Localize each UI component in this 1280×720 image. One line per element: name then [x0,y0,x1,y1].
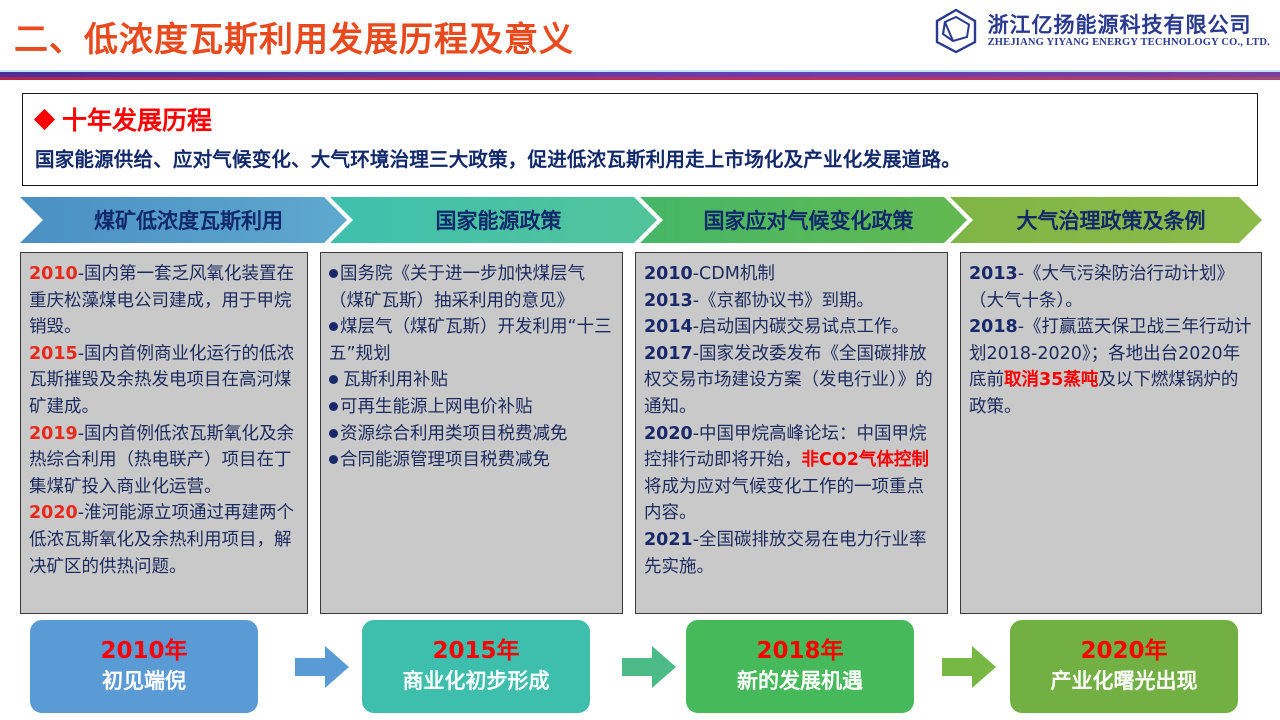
content-line: 2010-CDM机制 [644,261,941,288]
arrow-right-icon [622,646,676,688]
content-line-text: 将成为应对气候变化工作的一项重点内容。 [644,477,924,524]
year-label: 2015 [29,344,78,364]
content-line: 瓦斯利用补贴 [329,367,616,394]
content-line: 2013-《京都协议书》到期。 [644,288,941,315]
divider-line-3 [0,77,1280,80]
milestone-label: 新的发展机遇 [737,667,863,696]
chevron-step-label: 国家应对气候变化政策 [694,205,914,235]
content-line: 2013-《大气污染防治行动计划》（大气十条）。 [969,261,1255,314]
year-label: 2013 [969,264,1018,284]
chevron-step-label: 煤矿低浓度瓦斯利用 [84,205,283,235]
year-label: 2014 [644,317,693,337]
intro-heading-label: 十年发展历程 [62,101,212,137]
content-line: 合同能源管理项目税费减免 [329,447,616,474]
bullet-icon [329,429,338,438]
content-line: 2017-国家发改委发布《全国碳排放权交易市场建设方案（发电行业）》的通知。 [644,341,941,421]
intro-subtitle: 国家能源供给、应对气候变化、大气环境治理三大政策，促进低浓瓦斯利用走上市场化及产… [35,143,1257,172]
year-label: 2010 [644,264,693,284]
content-box-air-treatment-policy-and-regulations: 2013-《大气污染防治行动计划》（大气十条）。2018-《打赢蓝天保卫战三年行… [960,252,1262,614]
bullet-icon [329,455,338,464]
arrow-right-icon [942,646,996,688]
year-label: 2017 [644,344,693,364]
content-line-text: 合同能源管理项目税费减免 [340,450,550,470]
milestone-card-2[interactable]: 2015年商业化初步形成 [362,620,590,713]
chevron-step-1[interactable]: 煤矿低浓度瓦斯利用 [20,197,347,243]
company-logo: 浙江亿扬能源科技有限公司 ZHEJIANG YIYANG ENERGY TECH… [934,8,1270,54]
content-line-text: 煤层气（煤矿瓦斯）开发利用“十三五”规划 [329,317,612,364]
bullet-icon [329,402,338,411]
content-box-coal-mine-low-concentration-gas-utilization: 2010-国内第一套乏风氧化装置在重庆松藻煤电公司建成，用于甲烷销毁。2015-… [20,252,308,614]
arrow-right-icon [295,646,349,688]
chevron-step-label: 大气治理政策及条例 [1007,205,1206,235]
red-diamond-icon [34,108,55,129]
slide: 二、低浓度瓦斯利用发展历程及意义 浙江亿扬能源科技有限公司 ZHEJIANG Y… [0,0,1280,720]
bullet-icon [329,269,338,278]
year-label: 2020 [29,503,78,523]
content-line: 2014-启动国内碳交易试点工作。 [644,314,941,341]
content-line: 2010-国内第一套乏风氧化装置在重庆松藻煤电公司建成，用于甲烷销毁。 [29,261,301,341]
content-line-text: 资源综合利用类项目税费减免 [340,424,568,444]
content-line-text: -《京都协议书》到期。 [693,291,874,311]
content-line: 2020-中国甲烷高峰论坛：中国甲烷控排行动即将开始，非CO2气体控制将成为应对… [644,421,941,527]
year-label: 2018 [969,317,1018,337]
intro-panel: 十年发展历程 国家能源供给、应对气候变化、大气环境治理三大政策，促进低浓瓦斯利用… [22,93,1258,186]
chevron-step-4[interactable]: 大气治理政策及条例 [950,197,1262,243]
content-line: 资源综合利用类项目税费减免 [329,421,616,448]
bullet-icon [329,375,338,384]
company-name-en: ZHEJIANG YIYANG ENERGY TECHNOLOGY CO., L… [988,37,1270,50]
content-box-national-energy-policy: 国务院《关于进一步加快煤层气（煤矿瓦斯）抽采利用的意见》煤层气（煤矿瓦斯）开发利… [320,252,623,614]
milestone-year: 2020年 [1080,637,1167,667]
content-line-text: 可再生能源上网电价补贴 [340,397,533,417]
slide-header: 二、低浓度瓦斯利用发展历程及意义 浙江亿扬能源科技有限公司 ZHEJIANG Y… [0,0,1280,70]
chevron-band: 煤矿低浓度瓦斯利用国家能源政策国家应对气候变化政策大气治理政策及条例 [20,197,1262,243]
content-line: 2020-淮河能源立项通过再建两个低浓瓦斯氧化及余热利用项目，解决矿区的供热问题… [29,500,301,580]
milestone-label: 产业化曙光出现 [1051,667,1198,696]
page-title: 二、低浓度瓦斯利用发展历程及意义 [14,12,574,61]
year-label: 2019 [29,424,78,444]
year-label: 2021 [644,530,693,550]
chevron-step-3[interactable]: 国家应对气候变化政策 [640,197,967,243]
content-line: 可再生能源上网电价补贴 [329,394,616,421]
milestone-label: 商业化初步形成 [403,667,550,696]
milestone-year: 2018年 [756,637,843,667]
year-label: 2020 [644,424,693,444]
hexagon-logo-icon [934,8,978,54]
milestone-card-1[interactable]: 2010年初见端倪 [30,620,258,713]
milestone-card-3[interactable]: 2018年新的发展机遇 [686,620,914,713]
content-line: 2021-全国碳排放交易在电力行业率先实施。 [644,527,941,580]
company-name-cn: 浙江亿扬能源科技有限公司 [988,13,1270,37]
milestone-year: 2015年 [432,637,519,667]
year-label: 2010 [29,264,78,284]
content-line: 2015-国内首例商业化运行的低浓瓦斯摧毁及余热发电项目在高河煤矿建成。 [29,341,301,421]
content-columns: 2010-国内第一套乏风氧化装置在重庆松藻煤电公司建成，用于甲烷销毁。2015-… [20,252,1262,614]
bullet-icon [329,322,338,331]
chevron-step-label: 国家能源政策 [426,205,562,235]
milestone-card-4[interactable]: 2020年产业化曙光出现 [1010,620,1238,713]
content-line: 国务院《关于进一步加快煤层气（煤矿瓦斯）抽采利用的意见》 [329,261,616,314]
content-line: 2019-国内首例低浓瓦斯氧化及余热综合利用（热电联产）项目在丁集煤矿投入商业化… [29,421,301,501]
highlighted-text: 取消35蒸吨 [1004,370,1098,390]
content-line-text: -启动国内碳交易试点工作。 [693,317,909,337]
year-label: 2013 [644,291,693,311]
content-line-text: 瓦斯利用补贴 [343,370,448,390]
highlighted-text: 非CO2气体控制 [802,450,929,470]
content-line: 煤层气（煤矿瓦斯）开发利用“十三五”规划 [329,314,616,367]
content-box-national-climate-change-policy: 2010-CDM机制2013-《京都协议书》到期。2014-启动国内碳交易试点工… [635,252,948,614]
milestone-label: 初见端倪 [102,667,186,696]
chevron-step-2[interactable]: 国家能源政策 [330,197,657,243]
header-divider [0,70,1280,80]
content-line: 2018-《打赢蓝天保卫战三年行动计划2018-2020》；各地出台2020年底… [969,314,1255,420]
milestone-year: 2010年 [100,637,187,667]
content-line-text: -CDM机制 [693,264,775,284]
content-line-text: 国务院《关于进一步加快煤层气（煤矿瓦斯）抽采利用的意见》 [329,264,585,311]
intro-heading: 十年发展历程 [37,101,1257,137]
milestone-row: 2010年初见端倪2015年商业化初步形成2018年新的发展机遇2020年产业化… [0,620,1280,720]
